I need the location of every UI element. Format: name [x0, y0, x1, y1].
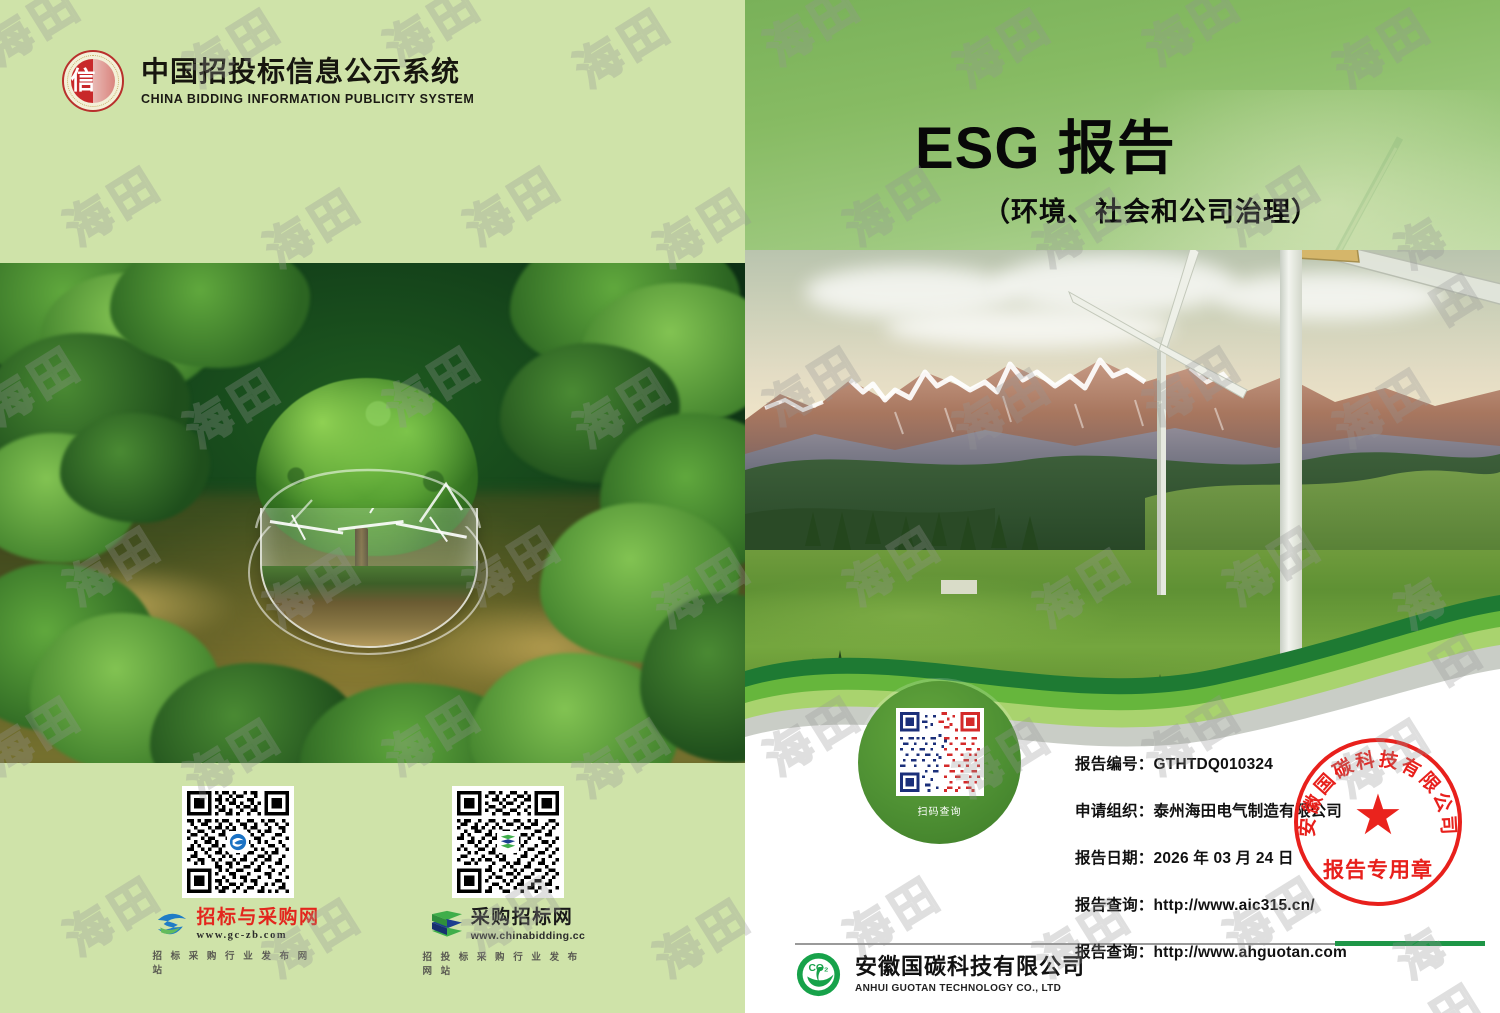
detail-value: 泰州海田电气制造有限公司 — [1154, 803, 1342, 820]
detail-report-no: 报告编号：GTHTDQ010324 — [1075, 752, 1475, 774]
detail-label: 报告查询： — [1075, 944, 1154, 961]
qr-item[interactable]: 采购招标网 www.chinabidding.cc 招 投 标 采 购 行 业 … — [423, 786, 593, 977]
svg-text:CO₂: CO₂ — [808, 963, 828, 974]
qr-code-icon[interactable] — [182, 786, 294, 898]
detail-query-1[interactable]: 报告查询：http://www.aic315.cn/ — [1075, 893, 1475, 915]
page-title: ESG 报告 — [915, 101, 1176, 185]
detail-label: 报告编号： — [1075, 756, 1154, 773]
qr-brand-url: www.gc-zb.com — [196, 930, 319, 941]
layered-blocks-logo-icon — [430, 910, 464, 940]
qr-brand-text: 招标与采购网 www.gc-zb.com — [196, 908, 319, 941]
qr-code-icon[interactable] — [896, 708, 984, 796]
qr-brand-subtitle: 招 标 采 购 行 业 发 布 网 站 — [153, 948, 323, 976]
footer-text-group: 安徽国碳科技有限公司 ANHUI GUOTAN TECHNOLOGY CO., … — [855, 955, 1085, 993]
swirl-logo-icon — [229, 833, 247, 851]
detail-label: 申请组织： — [1075, 803, 1154, 820]
glass-globe-with-tree — [232, 378, 502, 653]
detail-value: GTHTDQ010324 — [1154, 756, 1274, 773]
qr-code-row: 招标与采购网 www.gc-zb.com 招 标 采 购 行 业 发 布 网 站 — [0, 786, 745, 977]
left-cover-panel: 信 中国招投标信息公示系统 CHINA BIDDING INFORMATION … — [0, 0, 745, 1013]
swirl-logo-icon — [155, 909, 189, 939]
report-details-list: 报告编号：GTHTDQ010324 申请组织：泰州海田电气制造有限公司 报告日期… — [1075, 752, 1475, 987]
qr-item[interactable]: 招标与采购网 www.gc-zb.com 招 标 采 购 行 业 发 布 网 站 — [153, 786, 323, 977]
detail-label: 报告查询： — [1075, 897, 1154, 914]
qr-brand-title: 招标与采购网 — [196, 908, 319, 928]
brand-name-en: CHINA BIDDING INFORMATION PUBLICITY SYST… — [141, 92, 474, 106]
co2-leaf-logo-icon: CO₂ — [796, 952, 841, 997]
official-seal-icon: 信 — [62, 50, 124, 112]
qr-center-logo — [497, 831, 519, 853]
globe-glass-highlight — [250, 466, 486, 536]
tree-in-glass-globe-photo — [0, 263, 745, 763]
page-subtitle: （环境、社会和公司治理） — [983, 190, 1319, 229]
brand-text-group: 中国招投标信息公示系统 CHINA BIDDING INFORMATION PU… — [141, 56, 474, 105]
qr-brand-row: 采购招标网 www.chinabidding.cc — [430, 908, 586, 942]
esg-report-cover: 信 中国招投标信息公示系统 CHINA BIDDING INFORMATION … — [0, 0, 1500, 1013]
layered-blocks-logo-icon — [499, 833, 517, 851]
qr-center-logo — [227, 831, 249, 853]
scan-qr-badge[interactable]: 扫码查询 — [858, 681, 1021, 844]
detail-value: 2026 年 03 月 24 日 — [1154, 850, 1294, 867]
footer-company-cn: 安徽国碳科技有限公司 — [855, 955, 1085, 979]
footer-accent-bar — [1335, 941, 1485, 946]
distant-farmhouse — [941, 580, 977, 594]
footer-company-en: ANHUI GUOTAN TECHNOLOGY CO., LTD — [855, 983, 1085, 994]
wind-turbine-large — [1003, 250, 1500, 650]
detail-date: 报告日期：2026 年 03 月 24 日 — [1075, 846, 1475, 868]
footer-company-brand: CO₂ 安徽国碳科技有限公司 ANHUI GUOTAN TECHNOLOGY C… — [796, 952, 1085, 997]
brand-name-cn: 中国招投标信息公示系统 — [141, 56, 474, 88]
detail-value[interactable]: http://www.aic315.cn/ — [1154, 897, 1315, 914]
qr-code-icon[interactable] — [452, 786, 564, 898]
detail-applicant: 申请组织：泰州海田电气制造有限公司 — [1075, 799, 1475, 821]
foliage — [60, 413, 210, 523]
detail-label: 报告日期： — [1075, 850, 1154, 867]
brand-header: 信 中国招投标信息公示系统 CHINA BIDDING INFORMATION … — [62, 50, 474, 112]
qr-brand-title: 采购招标网 — [471, 908, 586, 928]
seal-ring — [67, 55, 119, 107]
qr-brand-url: www.chinabidding.cc — [471, 930, 586, 942]
globe-soil — [262, 566, 476, 646]
qr-brand-subtitle: 招 投 标 采 购 行 业 发 布 网 站 — [423, 949, 593, 977]
qr-brand-row: 招标与采购网 www.gc-zb.com — [155, 908, 319, 941]
qr-brand-text: 采购招标网 www.chinabidding.cc — [471, 908, 586, 942]
scan-label: 扫码查询 — [918, 803, 962, 818]
qr-matrix-color — [900, 712, 980, 792]
detail-value[interactable]: http://www.ahguotan.com — [1154, 944, 1347, 961]
